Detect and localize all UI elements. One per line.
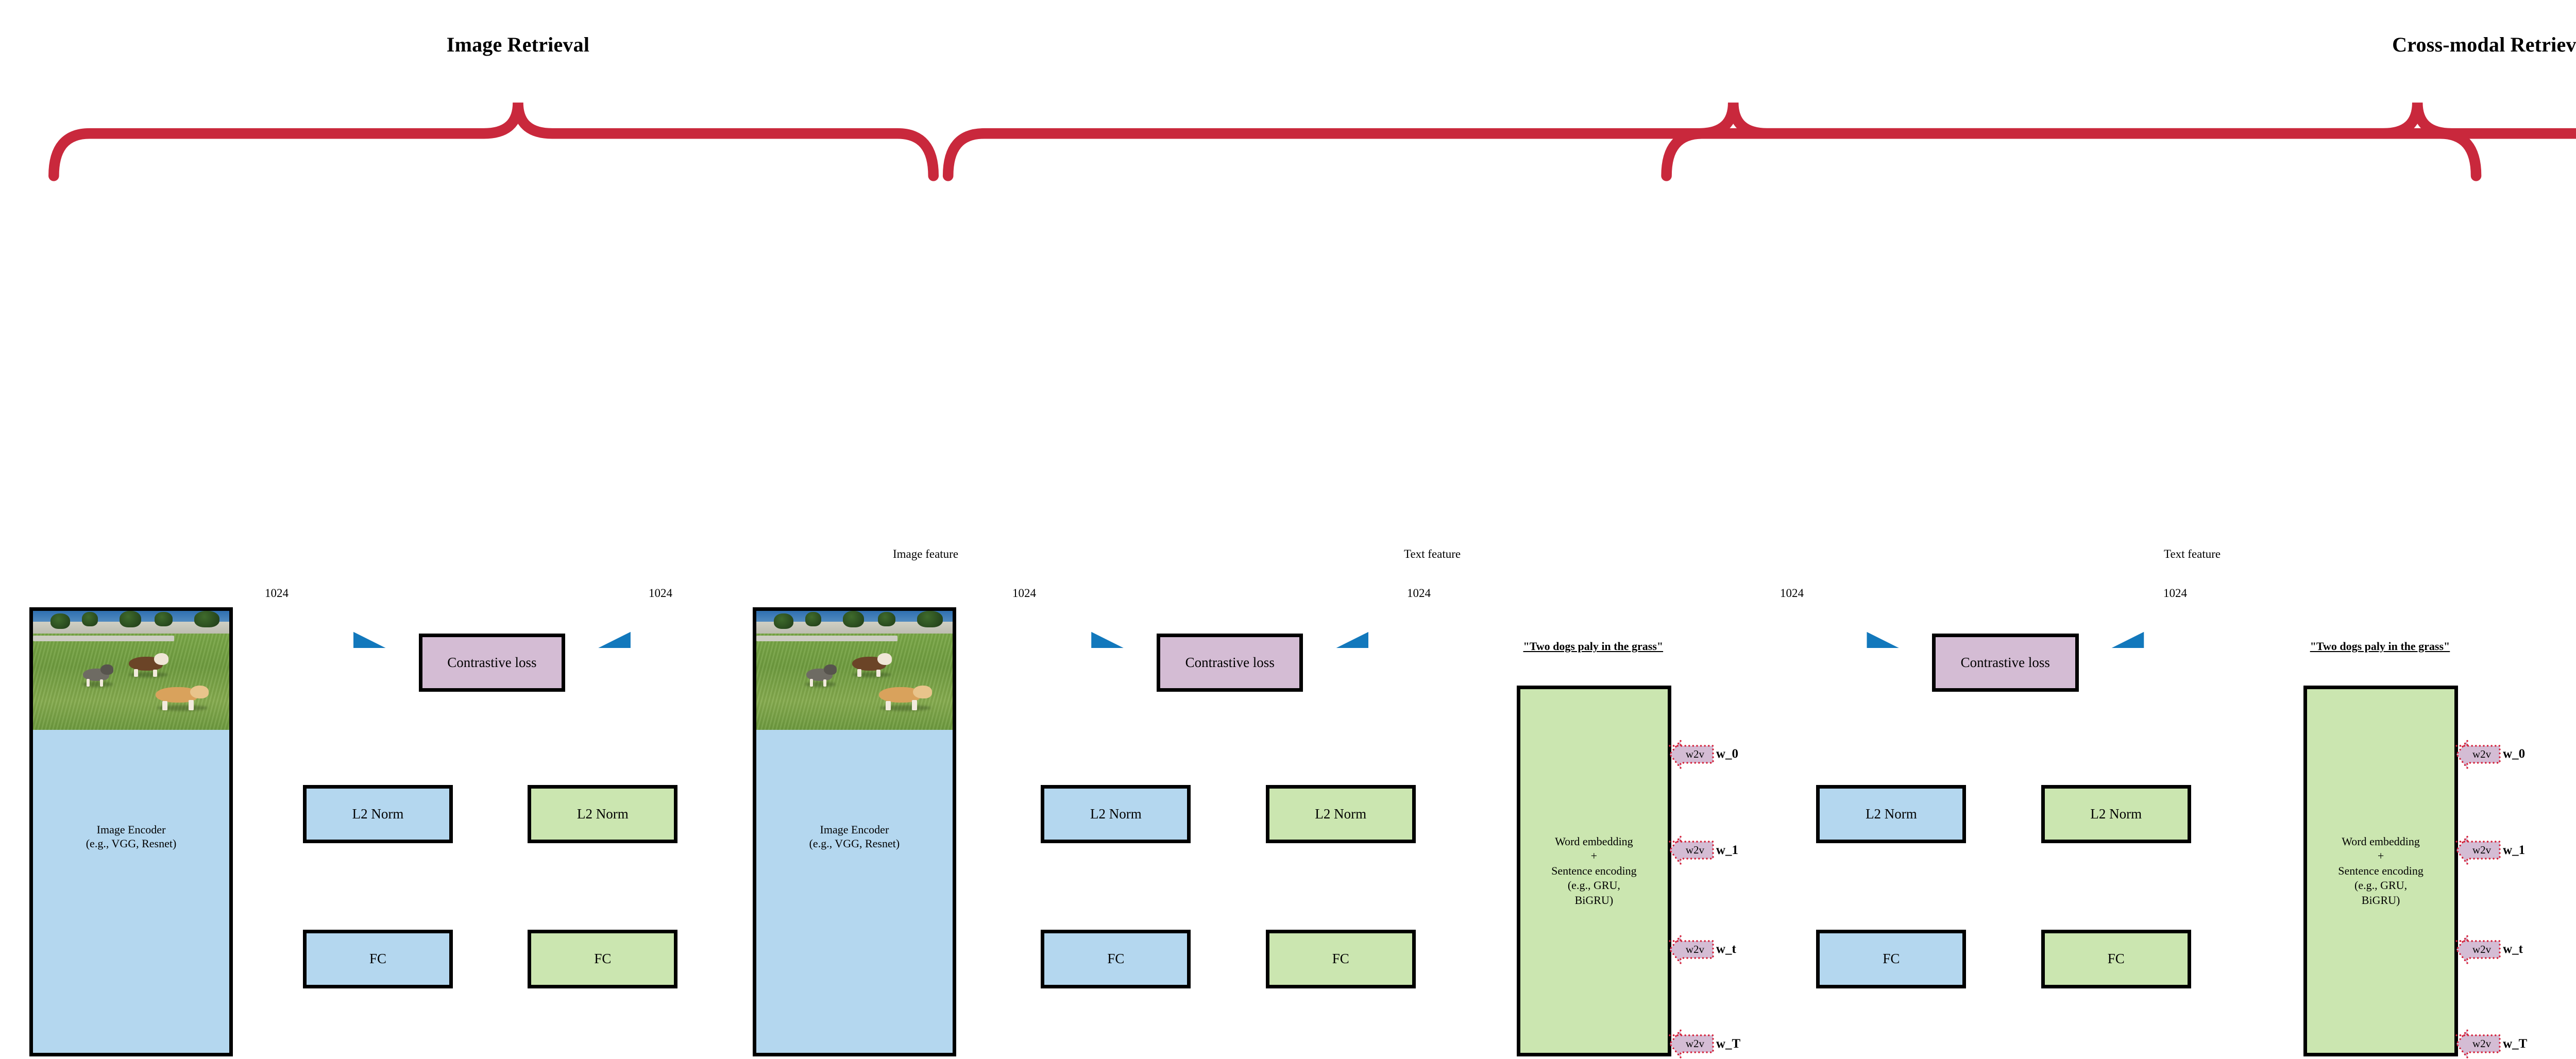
contrastive-loss-box-2: Contrastive loss <box>1157 634 1303 692</box>
w2v-tag-label: w2v <box>2464 842 2500 859</box>
text-caption-1: "Two dogs paly in the grass" <box>1523 640 1664 653</box>
sample-image-2 <box>756 611 953 730</box>
l2-norm-box-3-right: L2 Norm <box>2041 785 2191 844</box>
word-label-wT: w_T <box>1716 1037 1740 1051</box>
l2-norm-box-2-left: L2 Norm <box>1041 785 1191 844</box>
fc-box-2-left: FC <box>1041 930 1191 988</box>
text-encoder-1: Word embedding + Sentence encoding (e.g.… <box>1517 686 1671 1057</box>
w2v-tag-label: w2v <box>2464 1035 2500 1052</box>
w2v-tag-label: w2v <box>2464 746 2500 763</box>
dim-label-1: 1024 <box>263 587 290 600</box>
image-encoder-2: Image Encoder (e.g., VGG, Resnet) <box>753 607 956 1056</box>
image-encoder-1: Image Encoder (e.g., VGG, Resnet) <box>29 607 233 1056</box>
dim-label-5: 1024 <box>1778 587 1805 600</box>
te-line2: + <box>2378 849 2384 862</box>
te-line5: BiGRU) <box>2362 894 2400 907</box>
text-encoder-2-label: Word embedding + Sentence encoding (e.g.… <box>2338 834 2424 908</box>
w2v-row-1-0: w2v w_0 <box>1670 746 1738 763</box>
image-encoder-2-label: Image Encoder (e.g., VGG, Resnet) <box>756 823 953 851</box>
dim-label-4: 1024 <box>1405 587 1432 600</box>
w2v-arrow-icon: w2v <box>1670 941 1713 958</box>
w2v-tag-label: w2v <box>2464 941 2500 958</box>
te-line5: BiGRU) <box>1575 894 1614 907</box>
w2v-row-2-1: w2v w_1 <box>2456 842 2525 859</box>
feature-label-image: Image feature <box>893 548 958 561</box>
w2v-arrow-icon: w2v <box>2456 1035 2500 1052</box>
text-encoder-1-label: Word embedding + Sentence encoding (e.g.… <box>1551 834 1637 908</box>
fc-box-1-left: FC <box>303 930 453 988</box>
encoder-label-line2: (e.g., VGG, Resnet) <box>809 837 900 850</box>
text-encoder-2: Word embedding + Sentence encoding (e.g.… <box>2303 686 2458 1057</box>
image-encoder-1-label: Image Encoder (e.g., VGG, Resnet) <box>33 823 229 851</box>
fc-box-3-right: FC <box>2041 930 2191 988</box>
l2-norm-box-1-right: L2 Norm <box>528 785 677 844</box>
l2-norm-box-2-right: L2 Norm <box>1266 785 1416 844</box>
brace-cross-modal <box>948 103 2476 176</box>
w2v-row-1-2: w2v w_t <box>1670 941 1736 958</box>
feature-label-text-1: Text feature <box>1404 548 1461 561</box>
feature-label-text-2: Text feature <box>2164 548 2221 561</box>
brace-image-retrieval <box>54 103 933 176</box>
w2v-arrow-icon: w2v <box>1670 746 1713 763</box>
fc-box-2-right: FC <box>1266 930 1416 988</box>
encoder-label-line2: (e.g., VGG, Resnet) <box>86 837 177 850</box>
section-title-image-retrieval: Image Retrieval <box>447 32 589 57</box>
word-label-wT: w_T <box>2503 1037 2527 1051</box>
w2v-row-2-0: w2v w_0 <box>2456 746 2525 763</box>
te-line4: (e.g., GRU, <box>2354 879 2407 892</box>
w2v-row-1-1: w2v w_1 <box>1670 842 1738 859</box>
w2v-tag-label: w2v <box>1677 842 1713 859</box>
w2v-tag-label: w2v <box>1677 746 1713 763</box>
w2v-arrow-icon: w2v <box>2456 941 2500 958</box>
text-caption-2: "Two dogs paly in the grass" <box>2310 640 2450 653</box>
fc-box-3-left: FC <box>1816 930 1966 988</box>
w2v-arrow-icon: w2v <box>1670 842 1713 859</box>
te-line3: Sentence encoding <box>1551 864 1637 877</box>
contrastive-loss-box-3: Contrastive loss <box>1932 634 2079 692</box>
dim-label-3: 1024 <box>1011 587 1038 600</box>
te-line3: Sentence encoding <box>2338 864 2424 877</box>
encoder-label-line1: Image Encoder <box>820 823 889 836</box>
te-line1: Word embedding <box>2342 835 2420 848</box>
sample-image-1 <box>33 611 229 730</box>
te-line4: (e.g., GRU, <box>1568 879 1620 892</box>
dim-label-6: 1024 <box>2162 587 2189 600</box>
w2v-arrow-icon: w2v <box>2456 746 2500 763</box>
w2v-row-1-3: w2v w_T <box>1670 1035 1740 1052</box>
l2-norm-box-3-left: L2 Norm <box>1816 785 1966 844</box>
l2-norm-box-1-left: L2 Norm <box>303 785 453 844</box>
encoder-label-line1: Image Encoder <box>97 823 166 836</box>
w2v-row-2-3: w2v w_T <box>2456 1035 2527 1052</box>
te-line1: Word embedding <box>1555 835 1633 848</box>
w2v-tag-label: w2v <box>1677 1035 1713 1052</box>
dim-label-2: 1024 <box>647 587 674 600</box>
fc-box-1-right: FC <box>528 930 677 988</box>
w2v-row-2-2: w2v w_t <box>2456 941 2523 958</box>
w2v-arrow-icon: w2v <box>2456 842 2500 859</box>
contrastive-loss-box-1: Contrastive loss <box>419 634 566 692</box>
brace-text-retrieval <box>1667 103 2576 176</box>
te-line2: + <box>1591 849 1597 862</box>
w2v-tag-label: w2v <box>1677 941 1713 958</box>
diagram-canvas: Image Retrieval Cross-modal Retrieval Te… <box>0 0 2576 648</box>
section-title-cross-modal: Cross-modal Retrieval <box>2392 32 2576 57</box>
w2v-arrow-icon: w2v <box>1670 1035 1713 1052</box>
